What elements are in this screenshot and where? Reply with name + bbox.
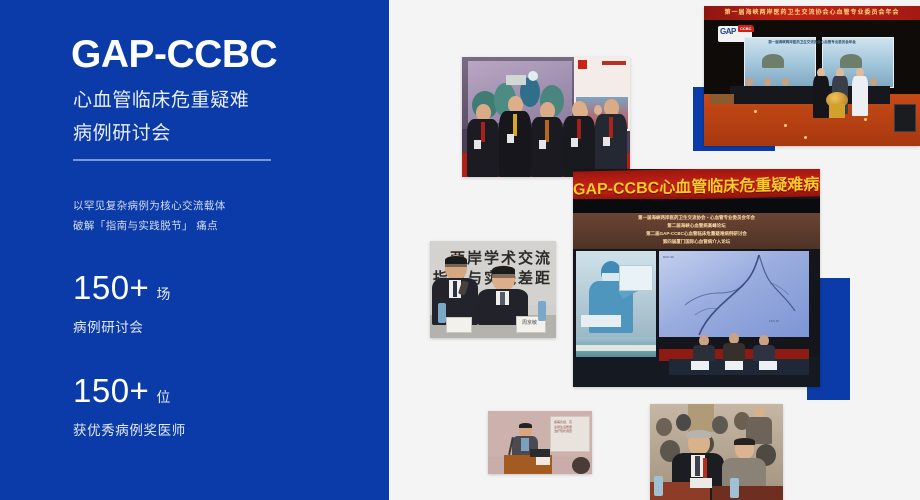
banner-sub-3: 第二届GAP-CCBC心血管临床危重疑难病例研讨会 xyxy=(573,231,820,237)
stat-value-row: 150+位 xyxy=(73,372,186,410)
stat-number: 150+ xyxy=(73,269,149,306)
photo-panel-discussion: 两岸学术交流 指南与实践差距 xyxy=(430,241,556,338)
stat-value-row: 150+场 xyxy=(73,269,171,307)
banner-sub-1: 第一届海峡两岸医药卫生交流协会・心血管专业委员会年会 xyxy=(573,215,820,221)
slide-root: GAP-CCBC 心血管临床危重疑难 病例研讨会 以罕见复杂病例为核心交流载体 … xyxy=(0,0,920,500)
angiogram-vessels xyxy=(659,251,809,337)
subtitle-block: 心血管临床危重疑难 病例研讨会 xyxy=(73,84,249,151)
photo-group-portrait xyxy=(462,57,630,177)
stat-unit: 场 xyxy=(156,286,171,302)
tagline-line-1: 以罕见复杂病例为核心交流载体 xyxy=(73,196,226,216)
photo-podium-speaker: 疾病负担、高患者生活质量治疗现状调查 xyxy=(488,411,592,474)
brand-title: GAP-CCBC xyxy=(71,33,277,77)
photo-opening-ceremony: 第一届海峡两岸医药卫生交流协会心血管专业委员会年会 GAP CCBC 第一届海峡… xyxy=(704,6,920,146)
tagline-line-2: 破解「指南与实践脱节」 痛点 xyxy=(73,216,226,236)
banner-sub-2: 第二届海峡心血管病高峰论坛 xyxy=(573,223,820,229)
stat-block-sessions: 150+场 病例研讨会 xyxy=(73,269,171,336)
subtitle-line-2: 病例研讨会 xyxy=(73,117,249,150)
stat-label: 获优秀病例奖医师 xyxy=(73,419,186,439)
banner-sub-4: 第四届厦门国际心血管病介入论坛 xyxy=(573,239,820,245)
photo-collage: 第一届海峡两岸医药卫生交流协会心血管专业委员会年会 GAP CCBC 第一届海峡… xyxy=(389,0,920,500)
photo-main-banner: GAP-CCBC心血管临床危重疑难病例研讨会 第一届海峡两岸医药卫生交流协会・心… xyxy=(573,169,820,387)
left-blue-panel: GAP-CCBC 心血管临床危重疑难 病例研讨会 以罕见复杂病例为核心交流载体 … xyxy=(0,0,389,500)
title-divider xyxy=(73,159,271,161)
tagline-block: 以罕见复杂病例为核心交流载体 破解「指南与实践脱节」 痛点 xyxy=(73,196,226,237)
stat-block-awarded-physicians: 150+位 获优秀病例奖医师 xyxy=(73,372,186,439)
stat-number: 150+ xyxy=(73,372,149,409)
stat-unit: 位 xyxy=(156,389,171,405)
stat-label: 病例研讨会 xyxy=(73,316,171,336)
subtitle-line-1: 心血管临床危重疑难 xyxy=(73,84,249,117)
photo-audience xyxy=(650,404,783,500)
